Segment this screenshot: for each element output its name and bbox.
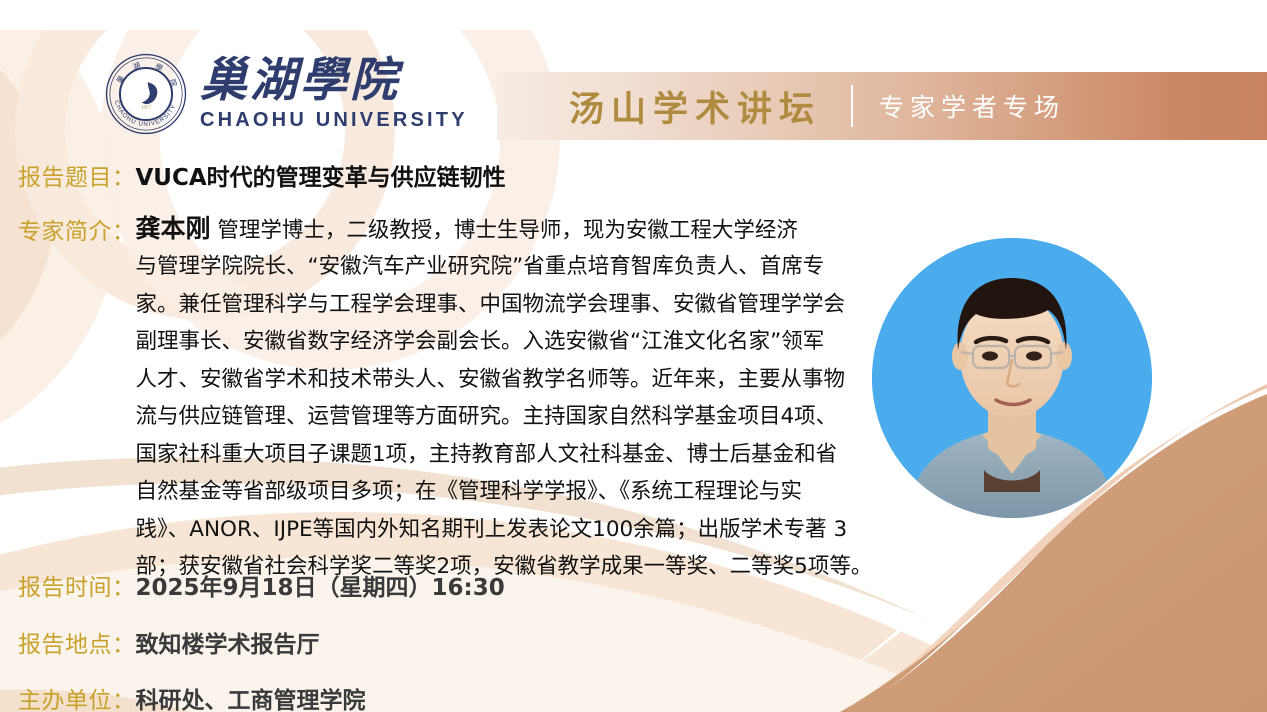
university-logo: 1977 巢 湖 學 院 CHAOHU UNIVERSITY 巢湖學院 CHAO… [104,52,468,136]
poster-root: 1977 巢 湖 學 院 CHAOHU UNIVERSITY 巢湖學院 CHAO… [0,0,1267,712]
report-place-value: 致知楼学术报告厅 [136,625,320,659]
university-seal-icon: 1977 巢 湖 學 院 CHAOHU UNIVERSITY [104,52,188,136]
report-title-row: 报告题目： VUCA时代的管理变革与供应链韧性 [18,158,506,192]
logo-wordmark-en: CHAOHU UNIVERSITY [200,109,468,132]
bio-line: 副理事长、安徽省数字经济学会副会长。入选安徽省“江淮文化名家”领军 [136,323,848,361]
organizer-row: 主办单位： 科研处、工商管理学院 [18,681,366,712]
report-time-row: 报告时间： 2025年9月18日（星期四）16:30 [18,568,505,602]
bio-line: 家。兼任管理科学与工程学会理事、中国物流学会理事、安徽省管理学学会 [136,286,848,324]
speaker-bio-row: 专家简介： 龚本刚 管理学博士，二级教授，博士生导师，现为安徽工程大学经济 与管… [18,212,848,586]
bio-line: 人才、安徽省学术和技术带头人、安徽省教学名师等。近年来，主要从事物 [136,361,848,399]
speaker-bio-label: 专家简介： [18,212,136,246]
bio-line: 自然基金等省部级项目多项；在《管理科学学报》、《系统工程理论与实 [136,473,848,511]
bio-line: 与管理学院院长、“安徽汽车产业研究院”省重点培育智库负责人、首席专 [136,248,848,286]
report-time-label: 报告时间： [18,568,136,602]
svg-text:1977: 1977 [141,105,152,111]
header-banner: 汤山学术讲坛 专家学者专场 [497,72,1267,140]
report-title-value: VUCA时代的管理变革与供应链韧性 [136,158,506,192]
speaker-bio-body: 龚本刚 管理学博士，二级教授，博士生导师，现为安徽工程大学经济 与管理学院院长、… [136,212,848,586]
banner-divider [851,85,853,127]
organizer-label: 主办单位： [18,681,136,712]
logo-wordmark-cn: 巢湖學院 [200,57,468,104]
report-place-row: 报告地点： 致知楼学术报告厅 [18,625,320,659]
bio-line: 龚本刚 管理学博士，二级教授，博士生导师，现为安徽工程大学经济 [136,212,848,248]
bio-line: 流与供应链管理、运营管理等方面研究。主持国家自然科学基金项目4项、 [136,398,848,436]
organizer-value: 科研处、工商管理学院 [136,681,366,712]
report-place-label: 报告地点： [18,625,136,659]
bio-line-text: 管理学博士，二级教授，博士生导师，现为安徽工程大学经济 [211,218,798,243]
speaker-name: 龚本刚 [136,214,211,243]
bio-line: 国家社科重大项目子课题1项，主持教育部人文社科基金、博士后基金和省 [136,436,848,474]
banner-subtitle: 专家学者专场 [879,88,1065,124]
report-time-value: 2025年9月18日（星期四）16:30 [136,568,505,602]
speaker-portrait [872,238,1152,518]
report-title-label: 报告题目： [18,158,136,192]
bio-line: 践》、ANOR、IJPE等国内外知名期刊上发表论文100余篇；出版学术专著 3 [136,511,848,549]
banner-main-title: 汤山学术讲坛 [569,81,821,132]
